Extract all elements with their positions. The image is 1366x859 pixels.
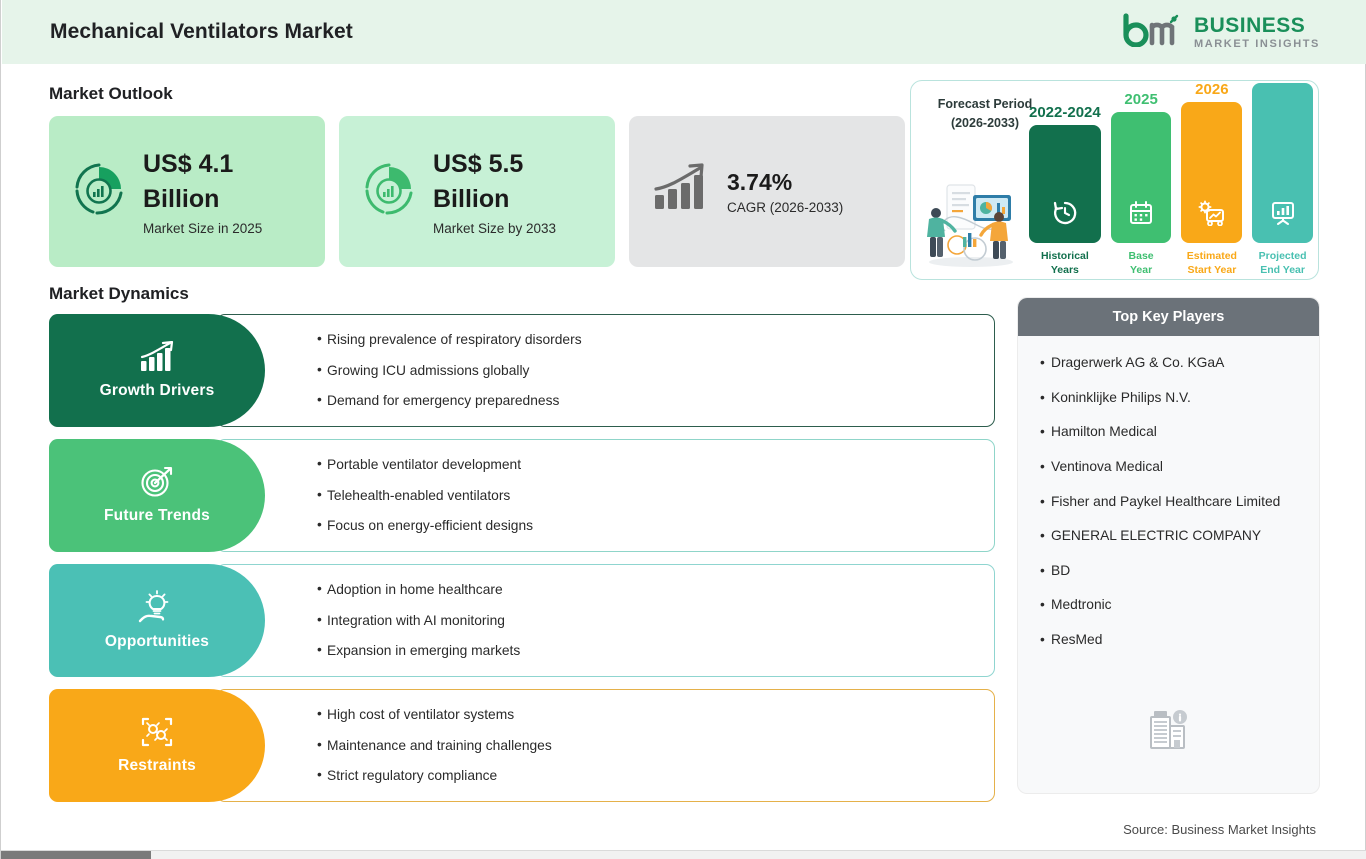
- stat-value: US$ 5.5: [433, 147, 556, 182]
- dynamics-row-opportunities: Adoption in home healthcare Integration …: [49, 564, 995, 677]
- list-item: Portable ventilator development: [317, 458, 994, 472]
- list-item: Integration with AI monitoring: [317, 614, 994, 628]
- dynamics-bullet-list: Rising prevalence of respiratory disorde…: [317, 333, 994, 408]
- list-item: GENERAL ELECTRIC COMPANY: [1040, 527, 1301, 546]
- caption-line1: Base: [1129, 250, 1154, 262]
- top-key-players-panel: Top Key Players Dragerwerk AG & Co. KGaA…: [1018, 298, 1319, 793]
- stat-card-market-size-2033: US$ 5.5 Billion Market Size by 2033: [339, 116, 615, 267]
- market-dynamics-list: Rising prevalence of respiratory disorde…: [49, 314, 995, 814]
- forecast-bar-projected: 2033 Projected: [1252, 80, 1313, 277]
- stat-value-unit: Billion: [143, 182, 262, 217]
- dynamics-pill-opportunities[interactable]: Opportunities: [49, 564, 265, 677]
- forecast-bar-rect: [1181, 102, 1242, 243]
- forecast-bar-historical: 2022-2024 Historical Years: [1029, 104, 1101, 277]
- forecast-title: Forecast Period (2026-2033): [927, 95, 1043, 133]
- list-item: Telehealth-enabled ventilators: [317, 489, 994, 503]
- caption-line1: Estimated: [1187, 250, 1237, 262]
- list-item: Dragerwerk AG & Co. KGaA: [1040, 354, 1301, 373]
- list-item: Expansion in emerging markets: [317, 644, 994, 658]
- forecast-bar-caption: Estimated Start Year: [1187, 249, 1237, 277]
- presentation-chart-icon: [1270, 200, 1296, 231]
- list-item: Hamilton Medical: [1040, 423, 1301, 442]
- list-item: Demand for emergency preparedness: [317, 394, 994, 408]
- donut-chart-icon: [361, 161, 417, 222]
- market-outlook-cards: US$ 4.1 Billion Market Size in 2025: [49, 116, 905, 267]
- stat-value: US$ 4.1: [143, 147, 262, 182]
- page-title: Mechanical Ventilators Market: [50, 20, 353, 44]
- dynamics-pill-label: Future Trends: [104, 507, 210, 525]
- caption-line2: Start Year: [1187, 264, 1236, 276]
- dynamics-bullet-list: High cost of ventilator systems Maintena…: [317, 708, 994, 783]
- forecast-bar-rect: [1111, 112, 1172, 243]
- page-header: Mechanical Ventilators Market BUSINESS M…: [2, 0, 1366, 64]
- dynamics-pill-growth-drivers[interactable]: Growth Drivers: [49, 314, 265, 427]
- bmi-logo-icon: [1122, 13, 1184, 52]
- stat-label: Market Size in 2025: [143, 221, 262, 236]
- list-item: High cost of ventilator systems: [317, 708, 994, 722]
- company-building-info-icon: [1146, 706, 1192, 757]
- key-players-list: Dragerwerk AG & Co. KGaA Koninklijke Phi…: [1018, 336, 1319, 650]
- scrollbar-thumb[interactable]: [1, 851, 151, 859]
- caption-line1: Projected: [1259, 250, 1307, 262]
- dynamics-card: Rising prevalence of respiratory disorde…: [216, 314, 995, 427]
- dynamics-row-restraints: High cost of ventilator systems Maintena…: [49, 689, 995, 802]
- settings-chart-icon: [1198, 200, 1226, 231]
- forecast-bar-rect: [1252, 83, 1313, 243]
- top-key-players-header: Top Key Players: [1018, 298, 1319, 336]
- top-key-players-title: Top Key Players: [1113, 309, 1225, 325]
- forecast-bars: 2022-2024 Historical Years 2: [1029, 81, 1319, 280]
- infographic-page: Mechanical Ventilators Market BUSINESS M…: [0, 0, 1366, 859]
- dynamics-row-future-trends: Portable ventilator development Teleheal…: [49, 439, 995, 552]
- dynamics-card: Adoption in home healthcare Integration …: [216, 564, 995, 677]
- list-item: Adoption in home healthcare: [317, 583, 994, 597]
- cagr-label: CAGR (2026-2033): [727, 200, 843, 215]
- constraint-brackets-icon: [139, 716, 175, 753]
- stat-value-unit: Billion: [433, 182, 556, 217]
- stat-label: Market Size by 2033: [433, 221, 556, 236]
- stat-card-cagr: 3.74% CAGR (2026-2033): [629, 116, 905, 267]
- dynamics-row-growth-drivers: Rising prevalence of respiratory disorde…: [49, 314, 995, 427]
- dynamics-pill-label: Opportunities: [105, 633, 209, 651]
- list-item: ResMed: [1040, 631, 1301, 650]
- dynamics-pill-label: Restraints: [118, 757, 196, 775]
- list-item: Koninklijke Philips N.V.: [1040, 389, 1301, 408]
- calendar-icon: [1128, 200, 1154, 231]
- forecast-bar-base: 2025: [1111, 91, 1172, 277]
- list-item: Medtronic: [1040, 596, 1301, 615]
- forecast-bar-year: 2026: [1195, 81, 1228, 98]
- list-item: Maintenance and training challenges: [317, 739, 994, 753]
- dynamics-card: High cost of ventilator systems Maintena…: [216, 689, 995, 802]
- forecast-bar-caption: Projected End Year: [1259, 249, 1307, 277]
- dynamics-pill-future-trends[interactable]: Future Trends: [49, 439, 265, 552]
- dynamics-pill-restraints[interactable]: Restraints: [49, 689, 265, 802]
- list-item: Fisher and Paykel Healthcare Limited: [1040, 493, 1301, 512]
- target-dart-icon: [139, 466, 175, 503]
- brand-logo: BUSINESS MARKET INSIGHTS: [1122, 13, 1320, 52]
- horizontal-scrollbar[interactable]: [1, 850, 1366, 859]
- dynamics-bullet-list: Adoption in home healthcare Integration …: [317, 583, 994, 658]
- dynamics-bullet-list: Portable ventilator development Teleheal…: [317, 458, 994, 533]
- list-item: Focus on energy-efficient designs: [317, 519, 994, 533]
- market-outlook-heading: Market Outlook: [49, 84, 173, 104]
- forecast-period-chart: Forecast Period (2026-2033): [910, 80, 1319, 280]
- forecast-title-line1: Forecast Period: [938, 97, 1032, 111]
- list-item: Rising prevalence of respiratory disorde…: [317, 333, 994, 347]
- dynamics-pill-label: Growth Drivers: [100, 382, 215, 400]
- lightbulb-hand-icon: [138, 590, 176, 629]
- forecast-bar-caption: Base Year: [1129, 249, 1154, 277]
- cagr-value: 3.74%: [727, 169, 843, 196]
- people-with-charts-illustration: [919, 173, 1023, 274]
- forecast-bar-caption: Historical Years: [1041, 249, 1089, 277]
- source-note: Source: Business Market Insights: [1123, 822, 1316, 837]
- caption-line2: End Year: [1260, 264, 1305, 276]
- growth-arrow-chart-icon: [651, 161, 713, 222]
- market-dynamics-heading: Market Dynamics: [49, 284, 189, 304]
- history-clock-icon: [1052, 200, 1078, 231]
- list-item: Growing ICU admissions globally: [317, 364, 994, 378]
- stat-card-market-size-2025: US$ 4.1 Billion Market Size in 2025: [49, 116, 325, 267]
- dynamics-card: Portable ventilator development Teleheal…: [216, 439, 995, 552]
- caption-line1: Historical: [1041, 250, 1089, 262]
- list-item: Ventinova Medical: [1040, 458, 1301, 477]
- forecast-bar-year: 2022-2024: [1029, 104, 1101, 121]
- forecast-bar-year: 2025: [1124, 91, 1157, 108]
- bar-chart-growth-icon: [138, 341, 176, 378]
- list-item: Strict regulatory compliance: [317, 769, 994, 783]
- forecast-title-line2: (2026-2033): [951, 116, 1019, 130]
- caption-line2: Years: [1051, 264, 1079, 276]
- logo-secondary-text: MARKET INSIGHTS: [1194, 39, 1320, 50]
- forecast-bar-estimated: 2026 Estimated: [1181, 81, 1242, 277]
- forecast-bar-rect: [1029, 125, 1101, 243]
- logo-primary-text: BUSINESS: [1194, 15, 1320, 36]
- list-item: BD: [1040, 562, 1301, 581]
- caption-line2: Year: [1130, 264, 1152, 276]
- donut-chart-icon: [71, 161, 127, 222]
